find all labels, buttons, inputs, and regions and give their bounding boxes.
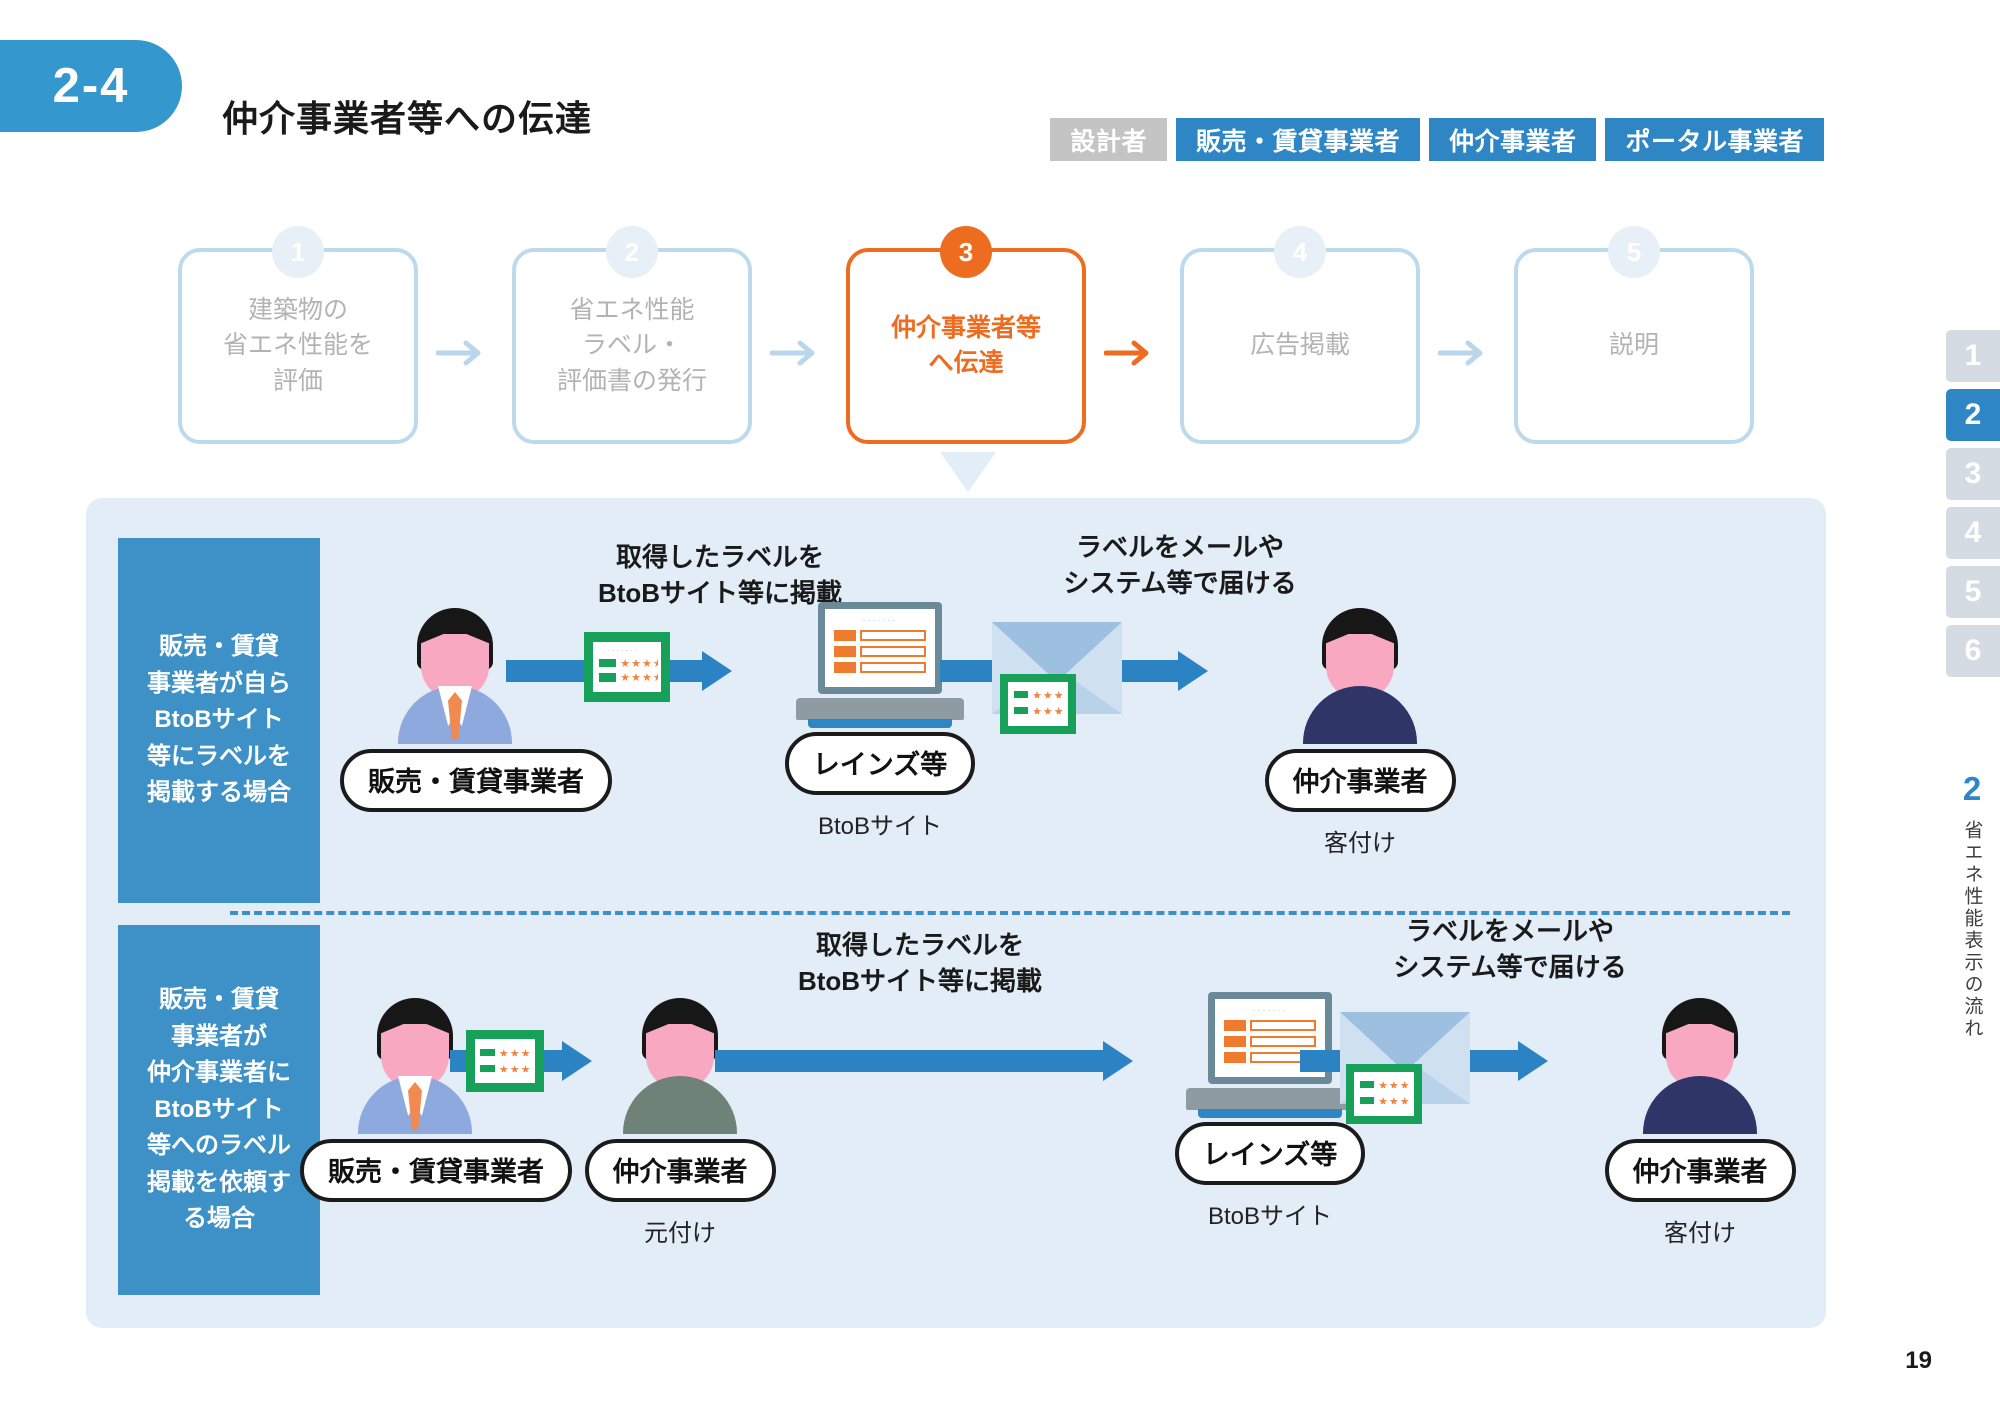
scenario-1-node-reins: ······· レインズ等 BtoBサイト bbox=[750, 602, 1010, 841]
step-5-label: 説明 bbox=[1599, 328, 1669, 364]
step-1-label: 建築物の 省エネ性能を 評価 bbox=[213, 293, 383, 400]
active-step-pointer bbox=[940, 452, 996, 492]
step-4-label: 広告掲載 bbox=[1240, 328, 1360, 364]
scenario-2-caption: 販売・賃貸 事業者が 仲介事業者に BtoBサイト 等へのラベル 掲載を依頼す … bbox=[118, 925, 320, 1295]
step-3-number: 3 bbox=[940, 226, 992, 278]
role-badge-broker[interactable]: 仲介事業者 bbox=[1429, 118, 1597, 161]
scenario-2-node-seller: 販売・賃貸事業者 bbox=[300, 998, 530, 1202]
label-card-stars-4: ★★★★★ bbox=[1032, 707, 1065, 714]
label-card-stars-8: ★★★★★ bbox=[1378, 1097, 1411, 1104]
step-3[interactable]: 3 仲介事業者等 へ伝達 bbox=[846, 248, 1086, 444]
laptop-icon: ······· bbox=[796, 602, 964, 728]
step-arrow-2-3 bbox=[770, 338, 830, 368]
step-arrow-4-5 bbox=[1438, 338, 1498, 368]
label-card-stars-3: ★★★★★ bbox=[1032, 691, 1065, 698]
scenario-2-pill-broker-origin: 仲介事業者 bbox=[585, 1139, 776, 1202]
scenario-1-subcap-reins: BtoBサイト bbox=[750, 806, 1010, 841]
scenario-2-arrow-2 bbox=[715, 1050, 1135, 1072]
scenario-1-label-card-1: ······· ★★★★★ ★★★★★ bbox=[584, 632, 670, 702]
chapter-tab-rail: 1 2 3 4 5 6 bbox=[1946, 330, 2000, 684]
chapter-title-vertical: 省エネ性能表示の流れ bbox=[1959, 820, 1986, 1040]
process-step-flow: 1 建築物の 省エネ性能を 評価 2 省エネ性能 ラベル・ 評価書の発行 3 仲… bbox=[178, 228, 1758, 448]
scenario-2-flowlabel-2: ラベルをメールや システム等で届ける bbox=[1300, 914, 1720, 986]
step-arrow-1-2 bbox=[436, 338, 496, 368]
step-5-number: 5 bbox=[1608, 226, 1660, 278]
chapter-number: 2 bbox=[1952, 770, 1992, 808]
scenario-1-caption: 販売・賃貸 事業者が自ら BtoBサイト 等にラベルを 掲載する場合 bbox=[118, 538, 320, 903]
scenario-1-label-card-2: ★★★★★ ★★★★★ bbox=[1000, 674, 1076, 734]
scenario-2-pill-reins: レインズ等 bbox=[1175, 1122, 1365, 1185]
label-card-stars-5: ★★★★★ bbox=[499, 1049, 533, 1057]
person-seller-icon bbox=[390, 608, 520, 743]
chapter-tab-3[interactable]: 3 bbox=[1946, 448, 2000, 500]
scenario-2-subcap-reins: BtoBサイト bbox=[1140, 1196, 1400, 1231]
scenario-1-node-broker: 仲介事業者 客付け bbox=[1230, 608, 1490, 858]
chapter-tab-6[interactable]: 6 bbox=[1946, 625, 2000, 677]
label-card-stars-7: ★★★★★ bbox=[1378, 1081, 1411, 1088]
scenario-2-subcap-broker-client: 客付け bbox=[1570, 1213, 1830, 1248]
scenario-1-node-seller: 販売・賃貸事業者 bbox=[340, 608, 570, 812]
scenario-2-flow: 販売・賃貸事業者 ★★★★★ ★★★★★ 仲介事業者 元付け 取得したラベルを … bbox=[340, 950, 1790, 1280]
scenario-1-pill-seller: 販売・賃貸事業者 bbox=[340, 749, 612, 812]
label-card-dots: ······· bbox=[607, 646, 647, 651]
step-2-label: 省エネ性能 ラベル・ 評価書の発行 bbox=[547, 293, 717, 400]
scenario-1-flowlabel-1: 取得したラベルを BtoBサイト等に掲載 bbox=[510, 540, 930, 612]
scenario-2-pill-broker-client: 仲介事業者 bbox=[1605, 1139, 1796, 1202]
step-4[interactable]: 4 広告掲載 bbox=[1180, 248, 1420, 444]
scenario-2-label-card-2: ★★★★★ ★★★★★ bbox=[1346, 1064, 1422, 1124]
page-header: 2-4 仲介事業者等への伝達 設計者 販売・賃貸事業者 仲介事業者 ポータル事業… bbox=[0, 40, 1900, 130]
label-card-stars: ★★★★★ bbox=[620, 659, 658, 668]
scenario-1-flow: 販売・賃貸事業者 取得したラベルを BtoBサイト等に掲載 ······· ★★… bbox=[340, 560, 1790, 890]
step-1-number: 1 bbox=[272, 226, 324, 278]
chapter-tab-2[interactable]: 2 bbox=[1946, 389, 2000, 441]
laptop-screen-dots-2: ······· bbox=[1224, 1006, 1316, 1015]
scenario-1-pill-reins: レインズ等 bbox=[785, 732, 975, 795]
person-broker-icon bbox=[1295, 608, 1425, 743]
chapter-tab-4[interactable]: 4 bbox=[1946, 507, 2000, 559]
laptop-screen-dots: ······· bbox=[834, 616, 926, 625]
role-badge-designer[interactable]: 設計者 bbox=[1050, 118, 1167, 161]
person-broker-client-icon bbox=[1635, 998, 1765, 1133]
label-card-stars-6: ★★★★★ bbox=[499, 1065, 533, 1073]
step-3-label: 仲介事業者等 へ伝達 bbox=[881, 311, 1051, 382]
chapter-label: 2 省エネ性能表示の流れ bbox=[1952, 770, 1992, 1040]
chapter-tab-5[interactable]: 5 bbox=[1946, 566, 2000, 618]
scenario-2-flowlabel-1: 取得したラベルを BtoBサイト等に掲載 bbox=[710, 928, 1130, 1000]
scenario-2-pill-seller: 販売・賃貸事業者 bbox=[300, 1139, 572, 1202]
step-5[interactable]: 5 説明 bbox=[1514, 248, 1754, 444]
role-badge-seller-lessor[interactable]: 販売・賃貸事業者 bbox=[1176, 118, 1420, 161]
scenario-1-subcap-broker: 客付け bbox=[1230, 823, 1490, 858]
scenario-2-label-card-1: ★★★★★ ★★★★★ bbox=[466, 1030, 544, 1092]
step-arrow-3-4 bbox=[1104, 338, 1164, 368]
scenario-1-pill-broker: 仲介事業者 bbox=[1265, 749, 1456, 812]
step-2-number: 2 bbox=[606, 226, 658, 278]
page-number: 19 bbox=[1905, 1347, 1932, 1375]
scenario-2-node-broker-client: 仲介事業者 客付け bbox=[1570, 998, 1830, 1248]
step-4-number: 4 bbox=[1274, 226, 1326, 278]
section-number-badge: 2-4 bbox=[0, 40, 182, 132]
page-title: 仲介事業者等への伝達 bbox=[222, 90, 592, 142]
scenario-2-node-broker-origin: 仲介事業者 元付け bbox=[550, 998, 810, 1248]
scenario-1-flowlabel-2: ラベルをメールや システム等で届ける bbox=[970, 530, 1390, 602]
role-badge-group: 設計者 販売・賃貸事業者 仲介事業者 ポータル事業者 bbox=[1050, 118, 1824, 161]
chapter-tab-1[interactable]: 1 bbox=[1946, 330, 2000, 382]
scenario-2-subcap-broker-origin: 元付け bbox=[550, 1213, 810, 1248]
step-1[interactable]: 1 建築物の 省エネ性能を 評価 bbox=[178, 248, 418, 444]
label-card-stars-2: ★★★★★ bbox=[620, 673, 658, 682]
step-2[interactable]: 2 省エネ性能 ラベル・ 評価書の発行 bbox=[512, 248, 752, 444]
role-badge-portal[interactable]: ポータル事業者 bbox=[1605, 118, 1824, 161]
